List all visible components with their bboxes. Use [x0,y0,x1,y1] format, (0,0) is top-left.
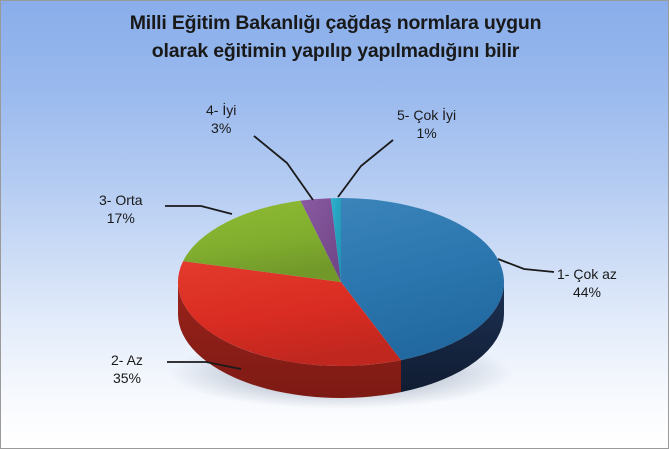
slice-label-iyi: 4- İyi 3% [206,101,236,137]
leader-line-orta [165,206,232,214]
slice-label-percent: 35% [111,369,143,387]
leader-line-cokiyi [338,140,393,197]
slice-label-name: 4- İyi [206,101,236,119]
slice-label-name: 2- Az [111,351,143,369]
slice-label-name: 5- Çok İyi [397,106,456,124]
slice-label-percent: 1% [397,124,456,142]
slice-label-cok-az: 1- Çok az 44% [557,265,617,301]
slice-label-name: 1- Çok az [557,265,617,283]
slice-label-orta: 3- Orta 17% [99,191,143,227]
leader-line-iyi [254,136,313,200]
leader-line-cokaz [498,259,554,272]
slice-label-percent: 17% [99,209,143,227]
slice-label-percent: 3% [206,119,236,137]
slide-canvas: Milli Eğitim Bakanlığı çağdaş normlara u… [0,0,669,449]
slice-label-cok-iyi: 5- Çok İyi 1% [397,106,456,142]
slice-label-az: 2- Az 35% [111,351,143,387]
slice-label-name: 3- Orta [99,191,143,209]
slice-label-percent: 44% [557,283,617,301]
